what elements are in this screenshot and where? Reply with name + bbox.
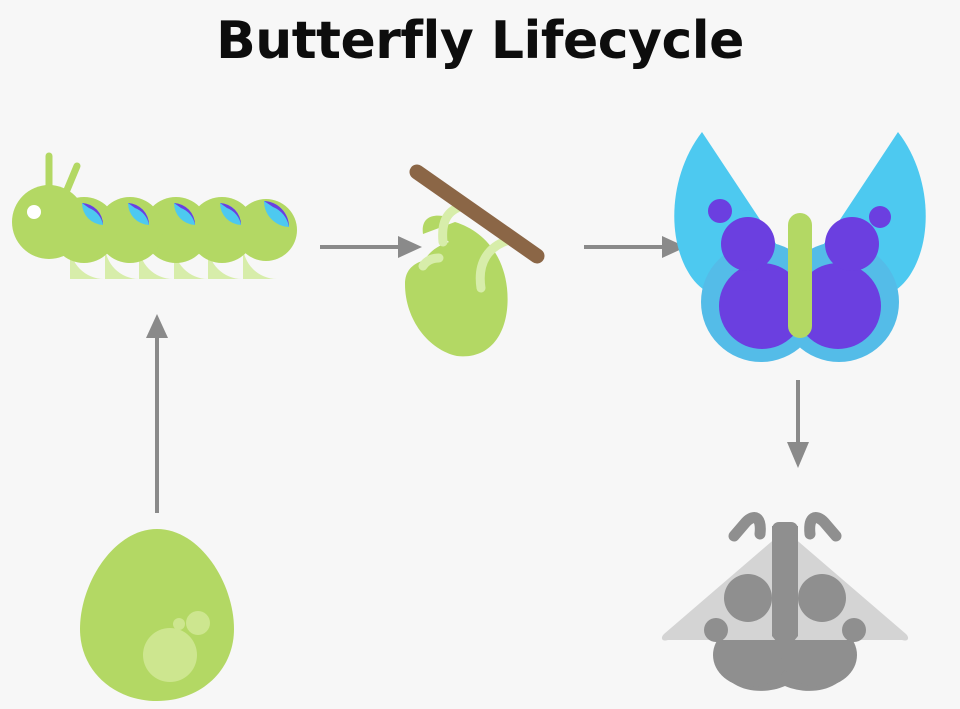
- butterfly-body: [788, 213, 812, 338]
- egg-icon: [72, 525, 242, 705]
- stage-chrysalis: [385, 160, 565, 365]
- moth-body: [772, 526, 798, 652]
- stage-caterpillar: [8, 150, 308, 315]
- page-title: Butterfly Lifecycle: [0, 14, 960, 69]
- chrysalis-icon: [385, 160, 565, 365]
- butterfly-icon: [660, 120, 940, 370]
- stage-butterfly: [660, 120, 940, 370]
- caterpillar-head: [12, 185, 86, 259]
- moth-icon: [650, 500, 920, 705]
- stage-egg: [72, 525, 242, 705]
- lifecycle-diagram: Butterfly Lifecycle: [0, 0, 960, 709]
- caterpillar-eye: [27, 205, 41, 219]
- arrow-down-icon: [778, 378, 818, 470]
- arrow-up-icon: [137, 310, 177, 515]
- arrow-egg-to-caterpillar: [137, 310, 177, 515]
- caterpillar-body: [12, 185, 297, 263]
- caterpillar-icon: [8, 150, 308, 315]
- moth-head: [772, 522, 798, 536]
- arrow-butterfly-to-moth: [778, 378, 818, 470]
- stage-moth: [650, 500, 920, 705]
